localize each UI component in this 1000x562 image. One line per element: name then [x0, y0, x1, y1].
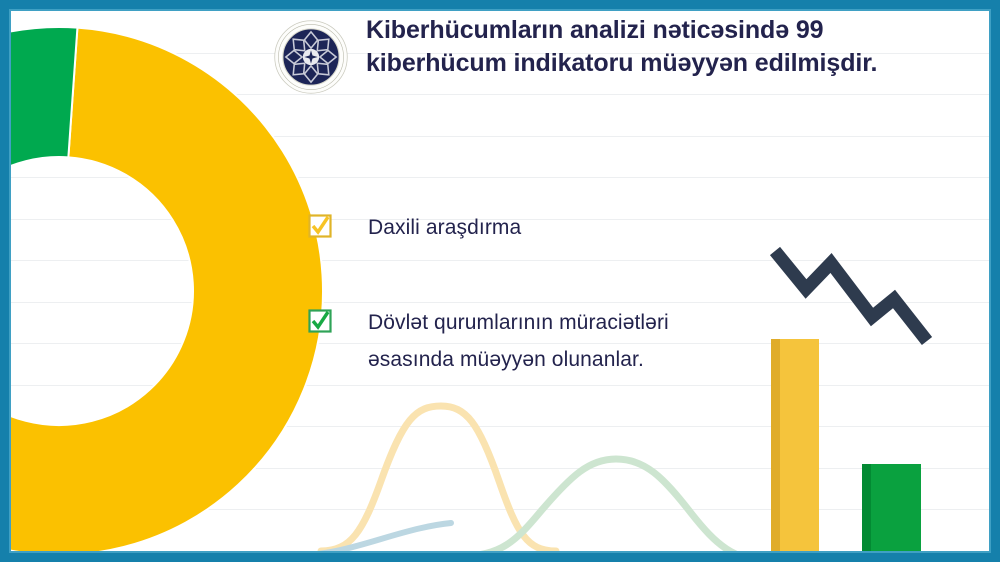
- header: Kiberhücumların analizi nəticəsində 99 k…: [274, 14, 974, 114]
- checkbox-checked-icon[interactable]: [308, 309, 332, 333]
- slide: 10 89: [0, 0, 1000, 562]
- azerbaijan-state-security-service-emblem-icon: [274, 20, 348, 94]
- checkbox-checked-icon[interactable]: [308, 214, 332, 238]
- legend: Daxili araşdırma Dövlət qurumlarının mür…: [308, 210, 778, 436]
- donut-slice-green: [11, 27, 77, 178]
- legend-item-dovlet-qurumlari[interactable]: Dövlət qurumlarının müraciətləri əsasınd…: [308, 305, 778, 379]
- legend-item-label: Daxili araşdırma: [368, 210, 521, 247]
- legend-item-daxili-arasdirma[interactable]: Daxili araşdırma: [308, 210, 778, 247]
- legend-item-label: Dövlət qurumlarının müraciətləri əsasınd…: [368, 305, 669, 379]
- page-title: Kiberhücumların analizi nəticəsində 99 k…: [366, 14, 877, 80]
